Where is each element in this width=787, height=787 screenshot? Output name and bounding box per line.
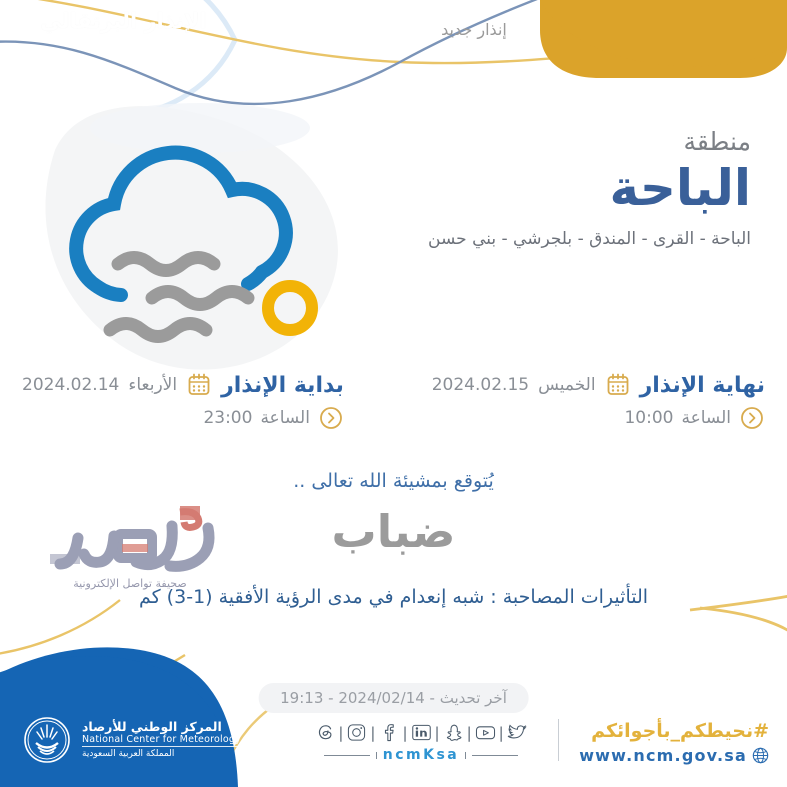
clock-chevron-icon — [318, 405, 344, 431]
alert-end-date: 2024.02.15 — [432, 375, 529, 395]
alert-start-day: الأربعاء — [128, 375, 177, 395]
handle-rule-left — [472, 755, 518, 756]
youtube-icon[interactable] — [475, 723, 496, 742]
region-kicker: منطقة — [331, 128, 751, 156]
facebook-icon[interactable] — [378, 723, 399, 742]
brand-block: #نحيطكم_بأجوائكم www.ncm.gov.sa — [579, 720, 769, 765]
new-alert-label: إنذار جديد — [404, 20, 544, 39]
social-links: | | | | — [296, 723, 546, 763]
ncm-arabic-name: المركز الوطني للأرصاد — [82, 720, 222, 734]
handle-tick-right — [376, 752, 377, 759]
social-separator: | — [496, 724, 507, 742]
linkedin-icon[interactable] — [411, 723, 432, 742]
social-separator: | — [399, 724, 410, 742]
tawasul-subtitle: صحيفة تواصل الإلكترونية — [73, 577, 186, 590]
handle-tick-left — [465, 752, 466, 759]
social-separator: | — [335, 724, 346, 742]
footer: المركز الوطني للأرصاد National Center fo… — [0, 697, 787, 787]
calendar-icon — [186, 372, 212, 398]
social-handle[interactable]: ncmKsa — [383, 747, 459, 763]
tawasul-watermark: صحيفة تواصل الإلكترونية — [30, 492, 230, 598]
alert-end-time: 10:00 — [624, 408, 673, 428]
region-name: الباحة — [331, 160, 751, 216]
alert-end-time-label: الساعة — [681, 408, 731, 428]
campaign-hashtag[interactable]: #نحيطكم_بأجوائكم — [579, 720, 769, 742]
ncm-english-name: National Center for Meteorology — [82, 735, 241, 748]
alert-card: الإنذار البرتقالي إنذار جديد منطقة الباح… — [0, 0, 787, 787]
alert-start-time-label: الساعة — [260, 408, 310, 428]
forecast-lead: يُتوقع بمشيئة الله تعالى .. — [0, 470, 787, 492]
twitter-icon[interactable] — [507, 723, 528, 742]
instagram-icon[interactable] — [346, 723, 367, 742]
region-block: منطقة الباحة الباحة - القرى - المندق - ب… — [331, 128, 751, 251]
alert-start-title: بداية الإنذار — [221, 373, 344, 398]
calendar-icon — [605, 372, 631, 398]
alert-end-block: نهاية الإنذار الخميس 2024.02.15 — [432, 372, 765, 454]
snapchat-icon[interactable] — [443, 723, 464, 742]
social-separator: | — [432, 724, 443, 742]
alert-start-block: بداية الإنذار الأربعاء 2024.02.14 — [22, 372, 344, 454]
social-separator: | — [464, 724, 475, 742]
ncm-logo: المركز الوطني للأرصاد National Center fo… — [22, 715, 241, 765]
alert-end-title: نهاية الإنذار — [640, 373, 765, 398]
handle-rule-right — [324, 755, 370, 756]
ncm-kingdom-label: المملكة العربية السعودية — [82, 749, 174, 759]
footer-divider — [558, 719, 559, 761]
website-url[interactable]: www.ncm.gov.sa — [579, 746, 747, 765]
alert-level-banner: الإنذار البرتقالي — [0, 0, 247, 72]
social-separator: | — [367, 724, 378, 742]
alert-start-time: 23:00 — [203, 408, 252, 428]
ncm-emblem-icon — [22, 715, 72, 765]
threads-icon[interactable] — [314, 723, 335, 742]
clock-chevron-icon — [739, 405, 765, 431]
region-sub-areas: الباحة - القرى - المندق - بلجرشي - بني ح… — [331, 228, 751, 252]
fog-cloud-sun-icon — [26, 112, 336, 382]
alert-period: بداية الإنذار الأربعاء 2024.02.14 — [0, 372, 787, 454]
alert-start-date: 2024.02.14 — [22, 375, 119, 395]
globe-icon — [752, 747, 769, 764]
alert-level-label: الإنذار البرتقالي — [40, 9, 206, 33]
alert-end-day: الخميس — [538, 375, 596, 395]
